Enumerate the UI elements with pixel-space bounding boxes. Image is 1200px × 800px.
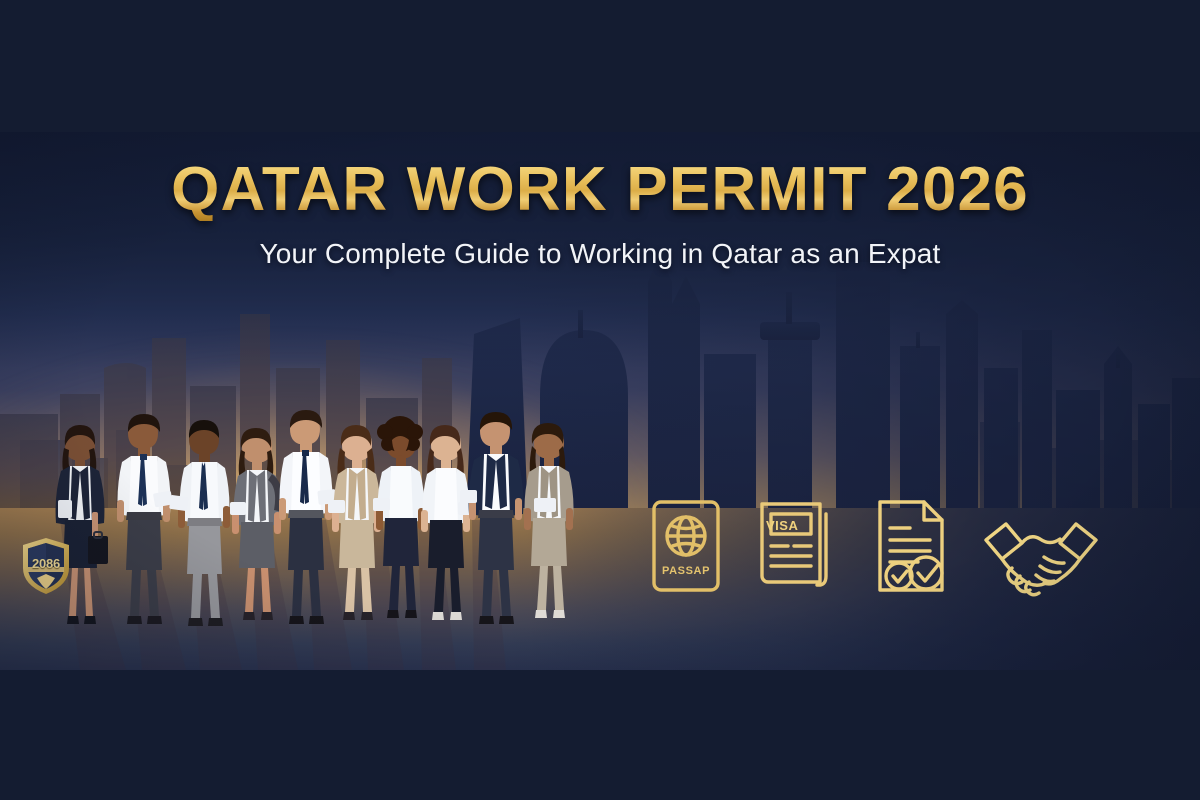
gold-icon-row: PASSAP VISA (640, 478, 1192, 598)
visa-document-icon: VISA (750, 494, 848, 598)
handshake-icon (980, 502, 1102, 598)
headline-block: QATAR WORK PERMIT 2026 Your Complete Gui… (0, 158, 1200, 270)
page-frame: PASSAP VISA (0, 0, 1200, 800)
person-10 (518, 414, 580, 642)
page-title: QATAR WORK PERMIT 2026 (165, 158, 1035, 221)
person-2 (110, 404, 176, 642)
passport-icon: PASSAP (640, 494, 732, 598)
approved-document-icon (866, 494, 962, 598)
page-subtitle: Your Complete Guide to Working in Qatar … (0, 238, 1200, 270)
person-1 (48, 416, 112, 642)
business-people-group (14, 392, 594, 642)
shield-badge-year: 2086 (20, 556, 72, 571)
visa-label: VISA (766, 518, 798, 533)
shield-badge: 2086 (20, 536, 72, 596)
passport-label: PASSAP (640, 565, 732, 577)
hero-banner: PASSAP VISA (0, 132, 1200, 670)
